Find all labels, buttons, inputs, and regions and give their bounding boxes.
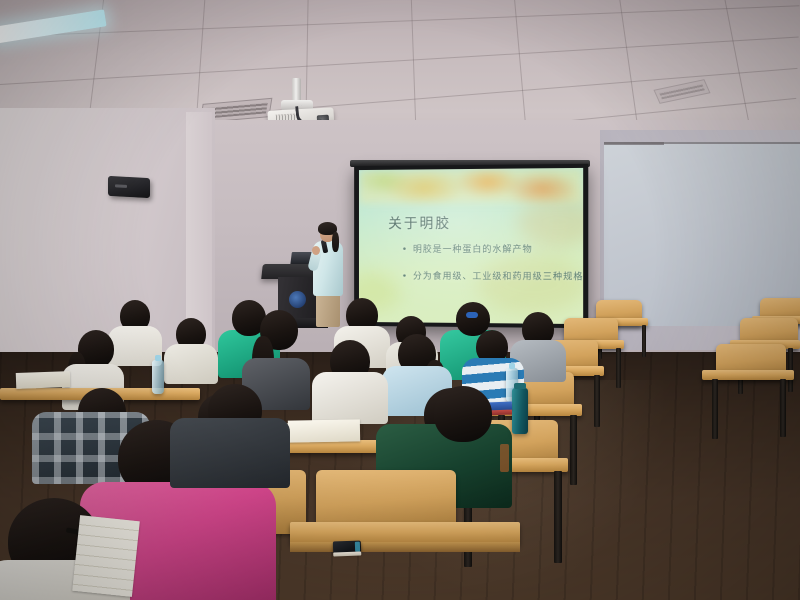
desk-leg bbox=[616, 348, 621, 388]
lecture-hall-photo: 关于明胶 •明胶是一种蛋白的水解产物 •分为食用级、工业级和药用级三种规格。 bbox=[0, 0, 800, 600]
lecturer-skirt bbox=[316, 291, 340, 327]
desk-leg bbox=[570, 415, 577, 485]
thermos-flask-icon bbox=[512, 388, 528, 434]
desk-front-edge bbox=[290, 542, 520, 552]
wall-speaker-icon bbox=[108, 176, 150, 198]
desk-leg bbox=[554, 471, 562, 563]
student-white-top bbox=[312, 372, 388, 424]
desk-leg bbox=[642, 325, 646, 357]
slide-title: 关于明胶 bbox=[388, 213, 451, 233]
desk bbox=[290, 522, 520, 544]
bullet-marker-icon: • bbox=[402, 245, 408, 255]
water-bottle-icon bbox=[152, 360, 164, 394]
polo-placket bbox=[500, 444, 509, 472]
slide-decor-blob bbox=[477, 255, 583, 314]
air-vent-icon bbox=[659, 84, 705, 100]
slide-bullet-2: •分为食用级、工业级和药用级三种规格。 bbox=[402, 269, 583, 283]
whiteboard-tray bbox=[604, 142, 664, 145]
student-dark-top bbox=[170, 418, 290, 488]
desk-leg bbox=[780, 379, 786, 437]
slide-decor-blob bbox=[517, 196, 583, 247]
slide-bullet-text: 明胶是一种蛋白的水解产物 bbox=[413, 245, 533, 255]
slide-surface: 关于明胶 •明胶是一种蛋白的水解产物 •分为食用级、工业级和药用级三种规格。 bbox=[359, 168, 583, 324]
bullet-marker-icon: • bbox=[402, 272, 408, 282]
hair-clip-icon bbox=[466, 312, 478, 318]
lecturer-hair-side bbox=[332, 232, 339, 252]
slide-bullet-1: •明胶是一种蛋白的水解产物 bbox=[402, 242, 533, 255]
slide-bullet-text: 分为食用级、工业级和药用级三种规格。 bbox=[413, 272, 583, 283]
desk-leg bbox=[712, 379, 718, 439]
smartphone-icon bbox=[333, 541, 361, 554]
lecturer-hand bbox=[312, 246, 320, 255]
lectern-emblem bbox=[289, 291, 306, 308]
classroom: 关于明胶 •明胶是一种蛋白的水解产物 •分为食用级、工业级和药用级三种规格。 bbox=[0, 0, 800, 600]
open-notebook bbox=[288, 419, 360, 442]
desk-leg bbox=[594, 375, 600, 427]
student-head bbox=[434, 386, 492, 442]
fluorescent-light-icon bbox=[0, 9, 107, 43]
handout-paper bbox=[72, 515, 140, 597]
open-notebook bbox=[16, 371, 71, 389]
student-white-top bbox=[164, 344, 218, 384]
